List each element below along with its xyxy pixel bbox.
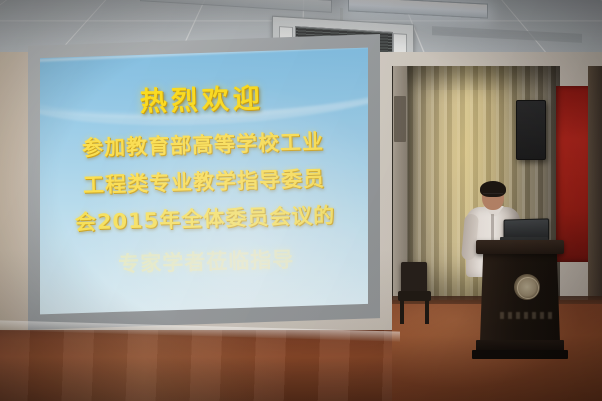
podium-top-surface: [476, 240, 564, 254]
slide-content: 热烈欢迎 参加教育部高等学校工业 工程类专业教学指导委员 会2015年全体委员会…: [40, 46, 368, 316]
podium: [470, 240, 566, 358]
glasses-icon: [483, 193, 503, 199]
projection-screen-frame: 热烈欢迎 参加教育部高等学校工业 工程类专业教学指导委员 会2015年全体委员会…: [28, 34, 380, 330]
slide-line-1: 参加教育部高等学校工业: [82, 126, 325, 163]
right-wall-edge: [588, 66, 602, 316]
podium-emblem-ring: [517, 277, 539, 299]
slide-line-2: 工程类专业教学指导委员: [83, 163, 326, 200]
podium-nameplate-text: [500, 312, 556, 319]
chair-leg: [425, 300, 429, 324]
column-speaker-box: [394, 96, 406, 142]
chair: [398, 262, 432, 324]
red-banner: [556, 86, 590, 262]
chair-leg: [400, 300, 404, 324]
laptop: [500, 219, 548, 241]
slide-title: 热烈欢迎: [139, 76, 264, 118]
wall-mounted-speaker-icon: [516, 100, 546, 160]
projection-screen-canvas: 热烈欢迎 参加教育部高等学校工业 工程类专业教学指导委员 会2015年全体委员会…: [40, 46, 368, 316]
chair-backrest: [401, 262, 427, 292]
photo-scene: 热烈欢迎 参加教育部高等学校工业 工程类专业教学指导委员 会2015年全体委员会…: [0, 0, 602, 401]
podium-body: [480, 252, 560, 342]
slide-line-3: 会2015年全体委员会议的: [74, 199, 335, 236]
slide-line-4: 专家学者莅临指导: [118, 244, 295, 279]
podium-plinth: [472, 350, 568, 359]
